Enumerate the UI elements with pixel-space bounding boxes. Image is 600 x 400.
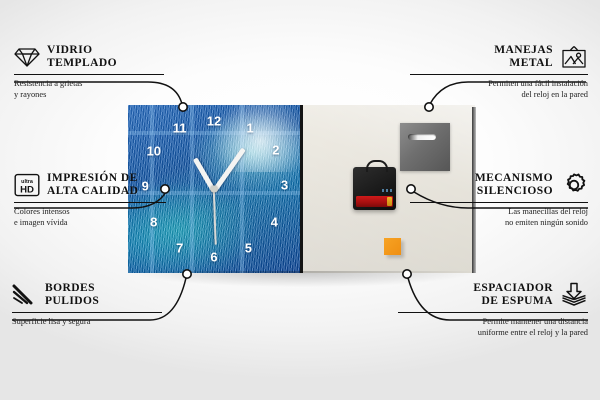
battery [356, 196, 393, 207]
callout-espaciador-espuma[interactable]: ESPACIADOR DE ESPUMA Permite mantener un… [398, 282, 588, 339]
foam-spacer-icon [560, 282, 588, 308]
clock-numeral: 5 [245, 241, 252, 256]
callout-divider [410, 74, 588, 75]
callout-divider [14, 202, 166, 203]
foam-spacer [384, 238, 401, 255]
callout-divider [398, 312, 588, 313]
callout-header: ultra HD IMPRESIÓN DE ALTA CALIDAD [14, 172, 166, 198]
callout-subtitle-line1: Resistencia a grietas [14, 79, 164, 90]
callout-title: MECANISMO SILENCIOSO [475, 172, 553, 198]
callout-subtitle-line2: e imagen vívida [14, 218, 166, 229]
callout-subtitle-line1: Las manecillas del reloj [410, 207, 588, 218]
callout-header: VIDRIO TEMPLADO [14, 44, 164, 70]
callout-title: ESPACIADOR DE ESPUMA [473, 282, 553, 308]
gear-icon [560, 172, 588, 198]
callout-divider [14, 74, 164, 75]
clock-numeral: 2 [272, 143, 279, 158]
clock-numeral: 4 [271, 215, 278, 230]
callout-subtitle-line1: Permiten una fácil instalación [410, 79, 588, 90]
clock-numeral: 6 [210, 250, 217, 265]
hanger-slot [408, 134, 436, 140]
callout-vidrio-templado[interactable]: VIDRIO TEMPLADO Resistencia a grietas y … [14, 44, 164, 101]
clock-numeral: 12 [207, 114, 221, 129]
callout-header: MECANISMO SILENCIOSO [410, 172, 588, 198]
picture-hanger-icon [560, 45, 588, 69]
pattern-highlight [211, 105, 300, 172]
callout-title: VIDRIO TEMPLADO [47, 44, 117, 70]
polished-edges-icon [12, 284, 38, 306]
infographic-canvas: 12 1 2 3 4 5 6 7 8 9 10 11 [0, 0, 600, 400]
svg-text:HD: HD [20, 184, 34, 195]
clock-numeral: 11 [173, 121, 187, 136]
ultra-hd-icon: ultra HD [14, 173, 40, 197]
clock-numeral: 7 [176, 241, 183, 256]
metal-hanger-plate [400, 123, 450, 171]
callout-subtitle-line2: no emiten ningún sonido [410, 218, 588, 229]
movement-label [382, 189, 392, 192]
pattern-gridline [190, 105, 194, 273]
callout-header: BORDES PULIDOS [12, 282, 162, 308]
callout-title: MANEJAS METAL [494, 44, 553, 70]
callout-title: IMPRESIÓN DE ALTA CALIDAD [47, 172, 138, 198]
diamond-icon [14, 46, 40, 68]
callout-header: MANEJAS METAL [410, 44, 588, 70]
movement-hanging-loop [366, 160, 388, 172]
callout-subtitle-line1: Superficie lisa y segura [12, 317, 162, 328]
callout-impresion-alta-calidad[interactable]: ultra HD IMPRESIÓN DE ALTA CALIDAD Color… [14, 172, 166, 229]
callout-header: ESPACIADOR DE ESPUMA [398, 282, 588, 308]
clock-numeral: 3 [281, 178, 288, 193]
callout-manejas-metal[interactable]: MANEJAS METAL Permiten una fácil instala… [410, 44, 588, 101]
clock-numeral: 10 [147, 144, 161, 159]
callout-title: BORDES PULIDOS [45, 282, 99, 308]
callout-divider [12, 312, 162, 313]
callout-divider [410, 202, 588, 203]
callout-subtitle-line2: del reloj en la pared [410, 90, 588, 101]
callout-subtitle-line2: uniforme entre el reloj y la pared [398, 328, 588, 339]
clock-center-cap [211, 186, 218, 193]
callout-subtitle-line1: Permite mantener una distancia [398, 317, 588, 328]
callout-subtitle-line2: y rayones [14, 90, 164, 101]
callout-subtitle-line1: Colores intensos [14, 207, 166, 218]
callout-mecanismo-silencioso[interactable]: MECANISMO SILENCIOSO Las manecillas del … [410, 172, 588, 229]
silent-clock-movement [353, 167, 396, 210]
clock-numeral: 1 [246, 121, 253, 136]
callout-bordes-pulidos[interactable]: BORDES PULIDOS Superficie lisa y segura [12, 282, 162, 328]
